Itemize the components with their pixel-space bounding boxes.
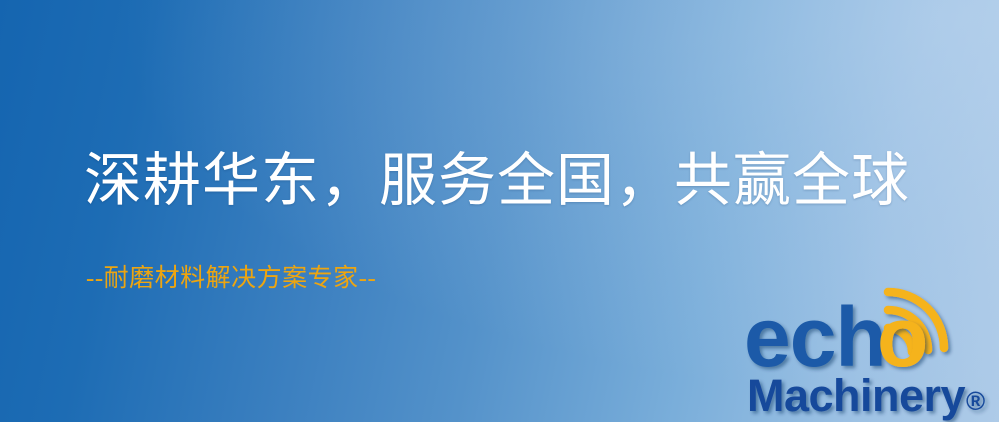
logo-text-machinery: Machinery: [747, 370, 966, 421]
echo-machinery-logo[interactable]: ech o Machinery ®: [744, 294, 996, 418]
banner-headline: 深耕华东，服务全国，共赢全球: [84, 152, 910, 210]
registered-trademark-icon: ®: [966, 386, 985, 416]
banner-subtitle: --耐磨材料解决方案专家--: [86, 266, 376, 291]
hero-banner: 深耕华东，服务全国，共赢全球 --耐磨材料解决方案专家-- ech o Mach…: [0, 0, 999, 422]
